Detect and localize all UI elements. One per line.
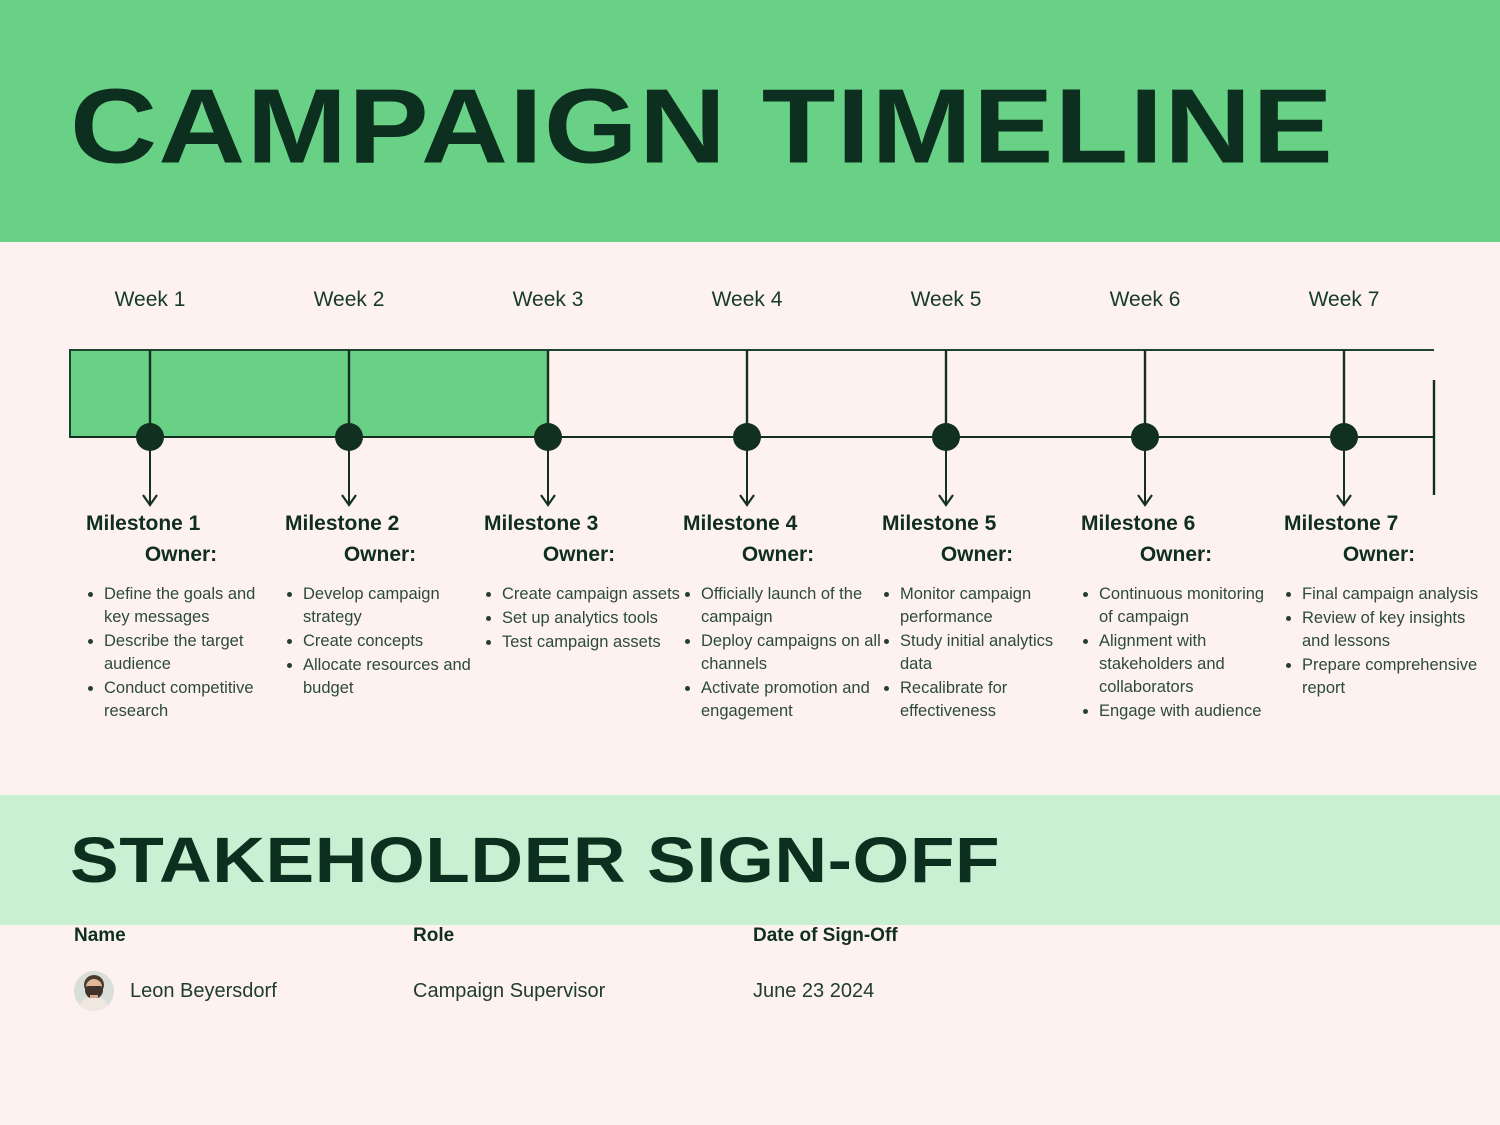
milestone-columns: Milestone 1 Owner: Define the goals and … xyxy=(0,508,1500,788)
milestone-title-7: Milestone 7 xyxy=(1284,512,1398,535)
milestone-heading-1: Milestone 1 Owner: xyxy=(86,508,284,570)
milestone-card-4: Milestone 4 Owner: Officially launch of … xyxy=(683,508,881,724)
milestone-title-4: Milestone 4 xyxy=(683,512,797,535)
milestone-task-list-1: Define the goals and key messages Descri… xyxy=(86,583,284,723)
signoff-title: STAKEHOLDER SIGN-OFF xyxy=(70,827,1000,893)
milestone-card-6: Milestone 6 Owner: Continuous monitoring… xyxy=(1081,508,1279,724)
milestone-heading-3: Milestone 3 Owner: xyxy=(484,508,682,570)
milestone-heading-5: Milestone 5 Owner: xyxy=(882,508,1080,570)
milestone-heading-4: Milestone 4 Owner: xyxy=(683,508,881,570)
milestone-marker-4[interactable] xyxy=(733,423,761,451)
milestone-card-7: Milestone 7 Owner: Final campaign analys… xyxy=(1284,508,1482,701)
milestone-heading-6: Milestone 6 Owner: xyxy=(1081,508,1279,570)
milestone-card-5: Milestone 5 Owner: Monitor campaign perf… xyxy=(882,508,1080,724)
avatar-body xyxy=(80,998,108,1011)
list-item: Deploy campaigns on all channels xyxy=(683,630,881,676)
list-item: Engage with audience xyxy=(1081,700,1279,723)
milestone-card-2: Milestone 2 Owner: Develop campaign stra… xyxy=(285,508,483,701)
milestone-marker-7[interactable] xyxy=(1330,423,1358,451)
table-row: Leon Beyersdorf xyxy=(74,971,277,1011)
milestone-task-list-3: Create campaign assets Set up analytics … xyxy=(484,583,682,654)
milestone-title-1: Milestone 1 xyxy=(86,512,200,535)
milestone-task-list-2: Develop campaign strategy Create concept… xyxy=(285,583,483,700)
signoff-role-value: Campaign Supervisor xyxy=(413,980,605,1003)
table-row: Campaign Supervisor xyxy=(413,971,605,1011)
list-item: Define the goals and key messages xyxy=(86,583,284,629)
milestone-title-6: Milestone 6 xyxy=(1081,512,1195,535)
campaign-timeline-page: CAMPAIGN TIMELINE Week 1 Week 2 Week 3 W… xyxy=(0,0,1500,1125)
list-item: Monitor campaign performance xyxy=(882,583,1080,629)
list-item: Create campaign assets xyxy=(484,583,682,606)
signoff-band: STAKEHOLDER SIGN-OFF xyxy=(0,795,1500,925)
header-band: CAMPAIGN TIMELINE xyxy=(0,0,1500,242)
milestone-card-3: Milestone 3 Owner: Create campaign asset… xyxy=(484,508,682,655)
milestone-task-list-7: Final campaign analysis Review of key in… xyxy=(1284,583,1482,700)
column-header-name: Name xyxy=(74,925,277,947)
signoff-column-date: Date of Sign-Off June 23 2024 xyxy=(753,925,898,1011)
list-item: Review of key insights and lessons xyxy=(1284,607,1482,653)
page-title: CAMPAIGN TIMELINE xyxy=(70,74,1334,180)
list-item: Activate promotion and engagement xyxy=(683,677,881,723)
table-row: June 23 2024 xyxy=(753,971,898,1011)
list-item: Recalibrate for effectiveness xyxy=(882,677,1080,723)
timeline-track xyxy=(0,242,1500,532)
milestone-title-2: Milestone 2 xyxy=(285,512,399,535)
list-item: Study initial analytics data xyxy=(882,630,1080,676)
signoff-name-value: Leon Beyersdorf xyxy=(130,980,277,1003)
list-item: Alignment with stakeholders and collabor… xyxy=(1081,630,1279,699)
milestone-task-list-5: Monitor campaign performance Study initi… xyxy=(882,583,1080,723)
signoff-column-name: Name Leon Beyersdorf xyxy=(74,925,277,1011)
milestone-owner-label-3: Owner: xyxy=(484,539,682,570)
milestone-heading-2: Milestone 2 Owner: xyxy=(285,508,483,570)
milestone-heading-7: Milestone 7 Owner: xyxy=(1284,508,1482,570)
milestone-owner-label-2: Owner: xyxy=(285,539,483,570)
milestone-marker-6[interactable] xyxy=(1131,423,1159,451)
signoff-date-value: June 23 2024 xyxy=(753,980,874,1003)
list-item: Officially launch of the campaign xyxy=(683,583,881,629)
signoff-column-role: Role Campaign Supervisor xyxy=(413,925,605,1011)
milestone-owner-label-1: Owner: xyxy=(86,539,284,570)
timeline-section: Week 1 Week 2 Week 3 Week 4 Week 5 Week … xyxy=(0,242,1500,795)
milestone-task-list-6: Continuous monitoring of campaign Alignm… xyxy=(1081,583,1279,723)
list-item: Allocate resources and budget xyxy=(285,654,483,700)
list-item: Set up analytics tools xyxy=(484,607,682,630)
list-item: Conduct competitive research xyxy=(86,677,284,723)
milestone-marker-2[interactable] xyxy=(335,423,363,451)
column-header-role: Role xyxy=(413,925,605,947)
list-item: Develop campaign strategy xyxy=(285,583,483,629)
milestone-task-list-4: Officially launch of the campaign Deploy… xyxy=(683,583,881,723)
milestone-owner-label-6: Owner: xyxy=(1081,539,1279,570)
milestone-owner-label-7: Owner: xyxy=(1284,539,1482,570)
list-item: Prepare comprehensive report xyxy=(1284,654,1482,700)
list-item: Final campaign analysis xyxy=(1284,583,1482,606)
milestone-marker-1[interactable] xyxy=(136,423,164,451)
list-item: Test campaign assets xyxy=(484,631,682,654)
signoff-table: Name Leon Beyersdorf Role Campaign Super… xyxy=(0,925,1500,1125)
list-item: Continuous monitoring of campaign xyxy=(1081,583,1279,629)
milestone-card-1: Milestone 1 Owner: Define the goals and … xyxy=(86,508,284,724)
milestone-title-3: Milestone 3 xyxy=(484,512,598,535)
milestone-owner-label-5: Owner: xyxy=(882,539,1080,570)
column-header-date: Date of Sign-Off xyxy=(753,925,898,947)
milestone-marker-3[interactable] xyxy=(534,423,562,451)
milestone-owner-label-4: Owner: xyxy=(683,539,881,570)
milestone-title-5: Milestone 5 xyxy=(882,512,996,535)
list-item: Create concepts xyxy=(285,630,483,653)
milestone-marker-5[interactable] xyxy=(932,423,960,451)
timeline-progress-fill xyxy=(70,350,548,437)
list-item: Describe the target audience xyxy=(86,630,284,676)
avatar xyxy=(74,971,114,1011)
